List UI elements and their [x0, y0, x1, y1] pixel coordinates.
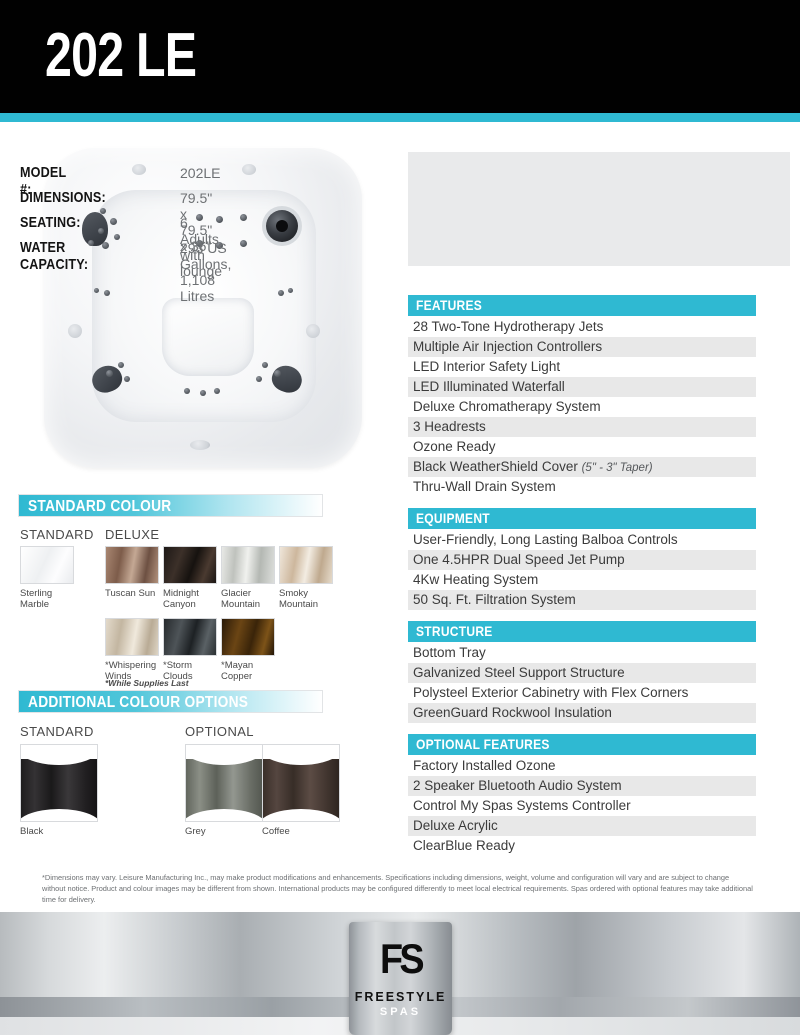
list-item: ClearBlue Ready [408, 836, 756, 856]
swatch-label: *Mayan Copper [221, 660, 279, 682]
spec-value: 293 US Gallons, 1,108 Litres [180, 240, 231, 304]
supplies-footnote: *While Supplies Last [105, 678, 189, 688]
label-standard-cabinet: STANDARD [20, 724, 94, 739]
cabinet-label: Grey [185, 826, 206, 837]
disclaimer-text: *Dimensions may vary. Leisure Manufactur… [42, 872, 754, 905]
swatch-glacier-mountain[interactable] [221, 546, 275, 584]
spec-value: 202LE [180, 165, 220, 181]
swatch-whispering-winds[interactable] [105, 618, 159, 656]
brand-logo-plaque: FS FREESTYLE SPAS [349, 922, 452, 1035]
spec-key: DIMENSIONS: [20, 189, 106, 206]
list-item: Galvanized Steel Support Structure [408, 663, 756, 683]
cabinet-label: Coffee [262, 826, 290, 837]
list-item: Deluxe Chromatherapy System [408, 397, 756, 417]
label-optional-cabinet: OPTIONAL [185, 724, 254, 739]
list-item: 3 Headrests [408, 417, 756, 437]
list-item: Multiple Air Injection Controllers [408, 337, 756, 357]
section-header-features: FEATURES [408, 295, 756, 316]
swatch-label: Smoky Mountain [279, 588, 337, 610]
list-item: Factory Installed Ozone [408, 756, 756, 776]
label-deluxe: DELUXE [105, 527, 159, 542]
fs-monogram-icon: FS [354, 938, 447, 980]
spec-panel [408, 152, 790, 266]
section-header-optional-features: OPTIONAL FEATURES [408, 734, 756, 755]
list-item: Thru-Wall Drain System [408, 477, 756, 497]
list-item: Polysteel Exterior Cabinetry with Flex C… [408, 683, 756, 703]
page-title: 202 LE [45, 22, 196, 90]
swatch-sterling-marble[interactable] [20, 546, 74, 584]
spec-key: SEATING: [20, 214, 81, 231]
header-accent-stripe [0, 113, 800, 122]
list-item: LED Illuminated Waterfall [408, 377, 756, 397]
list-item: User-Friendly, Long Lasting Balboa Contr… [408, 530, 756, 550]
list-item: Bottom Tray [408, 643, 756, 663]
cabinet-swatch-coffee[interactable] [262, 744, 340, 822]
list-item: 28 Two-Tone Hydrotherapy Jets [408, 317, 756, 337]
swatch-tuscan-sun[interactable] [105, 546, 159, 584]
section-header-standard-colour: STANDARD COLOUR [18, 494, 323, 517]
list-item: GreenGuard Rockwool Insulation [408, 703, 756, 723]
cabinet-swatch-black[interactable] [20, 744, 98, 822]
filter-port-icon [266, 210, 298, 242]
list-item: 2 Speaker Bluetooth Audio System [408, 776, 756, 796]
brand-subtitle: SPAS [349, 1006, 452, 1018]
list-item: Black WeatherShield Cover (5" - 3" Taper… [408, 457, 756, 477]
section-header-equipment: EQUIPMENT [408, 508, 756, 529]
list-item: Deluxe Acrylic [408, 816, 756, 836]
spec-key: WATER CAPACITY: [20, 239, 88, 273]
swatch-storm-clouds[interactable] [163, 618, 217, 656]
swatch-midnight-canyon[interactable] [163, 546, 217, 584]
list-item: LED Interior Safety Light [408, 357, 756, 377]
cabinet-label: Black [20, 826, 43, 837]
list-item: Control My Spas Systems Controller [408, 796, 756, 816]
list-item: One 4.5HPR Dual Speed Jet Pump [408, 550, 756, 570]
swatch-label: Midnight Canyon [163, 588, 221, 610]
list-item: 4Kw Heating System [408, 570, 756, 590]
label-standard: STANDARD [20, 527, 94, 542]
hot-tub-lounge-seat [162, 298, 254, 376]
list-item: 50 Sq. Ft. Filtration System [408, 590, 756, 610]
swatch-smoky-mountain[interactable] [279, 546, 333, 584]
swatch-label: Glacier Mountain [221, 588, 279, 610]
section-header-additional-colour: ADDITIONAL COLOUR OPTIONS [18, 690, 323, 713]
cabinet-swatch-grey[interactable] [185, 744, 263, 822]
list-item: Ozone Ready [408, 437, 756, 457]
list-item-note: (5" - 3" Taper) [582, 462, 653, 474]
section-header-structure: STRUCTURE [408, 621, 756, 642]
swatch-label: Sterling Marble [20, 588, 78, 610]
brand-name: FREESTYLE [349, 990, 452, 1004]
swatch-mayan-copper[interactable] [221, 618, 275, 656]
swatch-label: Tuscan Sun [105, 588, 163, 599]
